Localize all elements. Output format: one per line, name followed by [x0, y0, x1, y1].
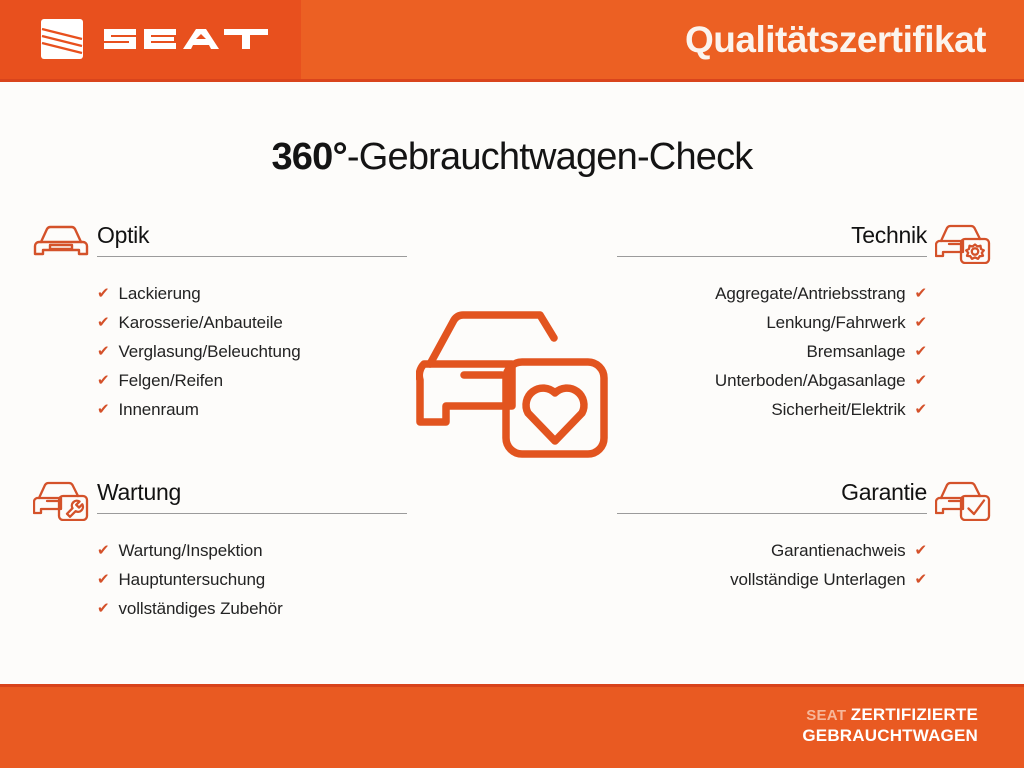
list-item: Bremsanlage ✔: [604, 337, 1024, 366]
page-title: 360°-Gebrauchtwagen-Check: [0, 136, 1024, 179]
list-item-label: Lackierung: [118, 279, 200, 308]
page-title-rest: -Gebrauchtwagen-Check: [347, 136, 753, 178]
page-title-certificate: Qualitätszertifikat: [366, 17, 986, 62]
footer-brand-zertifizierte: ZERTIFIZIERTE: [851, 705, 978, 724]
list-item-label: Garantienachweis: [771, 536, 905, 565]
list-item-label: Innenraum: [118, 395, 198, 424]
footer-brand-gebrauchtwagen: GEBRAUCHTWAGEN: [802, 726, 978, 746]
page-footer: SEAT ZERTIFIZIERTE GEBRAUCHTWAGEN: [0, 684, 1024, 768]
list-item: ✔ Innenraum: [0, 395, 420, 424]
footer-brand-seat: SEAT: [806, 707, 846, 724]
check-icon: ✔: [915, 308, 927, 337]
list-item-label: Karosserie/Anbauteile: [118, 308, 282, 337]
section-optik: Optik ✔ Lackierung ✔ Karosserie/Anbautei…: [0, 222, 420, 424]
list-item: ✔ Wartung/Inspektion: [0, 536, 420, 565]
seat-wordmark: [102, 22, 270, 56]
list-item: ✔ Verglasung/Beleuchtung: [0, 337, 420, 366]
check-icon: ✔: [97, 366, 109, 395]
certificate-page: Qualitätszertifikat 360°-Gebrauchtwagen-…: [0, 0, 1024, 768]
list-item-label: Unterboden/Abgasanlage: [715, 366, 906, 395]
check-icon: ✔: [97, 279, 109, 308]
section-divider-wartung: [97, 513, 407, 514]
footer-brand-line-1: SEAT ZERTIFIZIERTE: [802, 705, 978, 726]
check-icon: ✔: [97, 308, 109, 337]
checklist-technik: Aggregate/Antriebsstrang ✔ Lenkung/Fahrw…: [604, 279, 1024, 424]
list-item: Garantienachweis ✔: [604, 536, 1024, 565]
section-divider-garantie: [617, 513, 927, 514]
section-title-wartung: Wartung: [97, 479, 181, 506]
list-item: vollständige Unterlagen ✔: [604, 565, 1024, 594]
checklist-wartung: ✔ Wartung/Inspektion ✔ Hauptuntersuchung…: [0, 536, 420, 623]
list-item-label: Hauptuntersuchung: [118, 565, 265, 594]
check-icon: ✔: [915, 337, 927, 366]
check-icon: ✔: [97, 536, 109, 565]
list-item: ✔ Felgen/Reifen: [0, 366, 420, 395]
check-icon: ✔: [97, 337, 109, 366]
car-gear-icon: [935, 220, 991, 269]
section-header-wartung: Wartung: [0, 479, 420, 525]
list-item-label: Lenkung/Fahrwerk: [766, 308, 905, 337]
checklist-optik: ✔ Lackierung ✔ Karosserie/Anbauteile ✔ V…: [0, 279, 420, 424]
section-divider-technik: [617, 256, 927, 257]
check-icon: ✔: [915, 565, 927, 594]
list-item-label: Sicherheit/Elektrik: [771, 395, 905, 424]
footer-brand-lockup: SEAT ZERTIFIZIERTE GEBRAUCHTWAGEN: [802, 705, 978, 746]
list-item-label: Verglasung/Beleuchtung: [118, 337, 300, 366]
check-icon: ✔: [915, 395, 927, 424]
check-icon: ✔: [97, 395, 109, 424]
list-item-label: vollständiges Zubehör: [118, 594, 282, 623]
page-header: Qualitätszertifikat: [0, 0, 1024, 79]
section-header-technik: Technik: [604, 222, 1024, 268]
list-item: ✔ Hauptuntersuchung: [0, 565, 420, 594]
section-garantie: Garantie Garantienachweis ✔ vollständige…: [604, 479, 1024, 594]
list-item-label: Aggregate/Antriebsstrang: [715, 279, 905, 308]
section-technik: Technik Aggregate/Antriebsstrang ✔ Lenku…: [604, 222, 1024, 424]
car-wrench-icon: [33, 477, 89, 526]
check-icon: ✔: [915, 536, 927, 565]
check-icon: ✔: [915, 366, 927, 395]
check-icon: ✔: [915, 279, 927, 308]
section-header-garantie: Garantie: [604, 479, 1024, 525]
check-icon: ✔: [97, 594, 109, 623]
page-title-degrees: 360°: [271, 136, 346, 178]
footer-divider: [0, 684, 1024, 687]
car-check-icon: [935, 477, 991, 526]
list-item: ✔ vollständiges Zubehör: [0, 594, 420, 623]
checklist-garantie: Garantienachweis ✔ vollständige Unterlag…: [604, 536, 1024, 594]
section-title-optik: Optik: [97, 222, 149, 249]
car-front-icon: [33, 220, 89, 267]
list-item-label: vollständige Unterlagen: [730, 565, 905, 594]
list-item-label: Felgen/Reifen: [118, 366, 223, 395]
list-item: Aggregate/Antriebsstrang ✔: [604, 279, 1024, 308]
list-item: ✔ Karosserie/Anbauteile: [0, 308, 420, 337]
list-item-label: Wartung/Inspektion: [118, 536, 262, 565]
check-icon: ✔: [97, 565, 109, 594]
section-title-technik: Technik: [851, 222, 927, 249]
list-item: Lenkung/Fahrwerk ✔: [604, 308, 1024, 337]
section-wartung: Wartung ✔ Wartung/Inspektion ✔ Hauptunte…: [0, 479, 420, 623]
section-divider-optik: [97, 256, 407, 257]
section-title-garantie: Garantie: [841, 479, 927, 506]
list-item: Unterboden/Abgasanlage ✔: [604, 366, 1024, 395]
car-heart-icon: [416, 300, 612, 471]
seat-logo: [38, 16, 270, 62]
list-item-label: Bremsanlage: [806, 337, 905, 366]
seat-s-monogram-icon: [38, 16, 86, 62]
list-item: Sicherheit/Elektrik ✔: [604, 395, 1024, 424]
list-item: ✔ Lackierung: [0, 279, 420, 308]
header-divider: [0, 79, 1024, 82]
section-header-optik: Optik: [0, 222, 420, 268]
